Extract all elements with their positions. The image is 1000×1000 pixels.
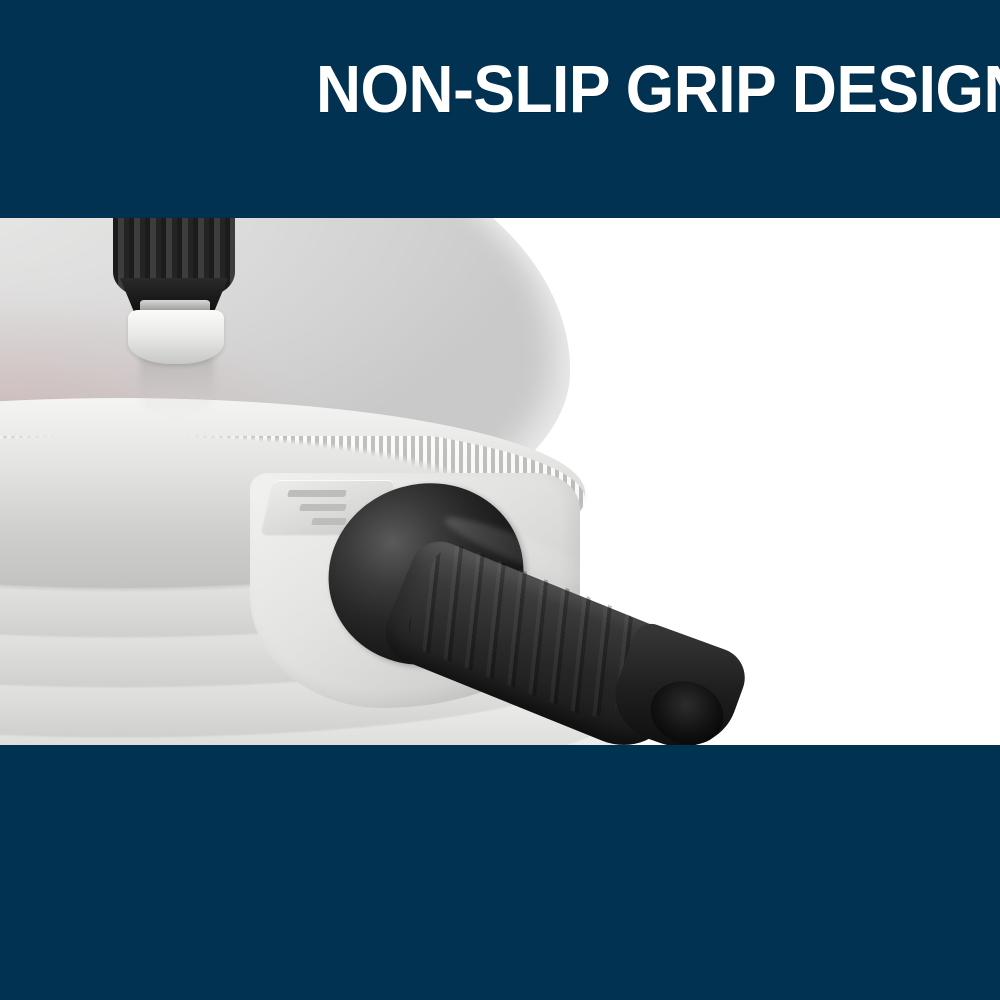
dust-cover-collar <box>128 310 224 364</box>
collar-shadow <box>140 356 214 416</box>
product-feature-banner: NON-SLIP GRIP DESIGN <box>0 0 1000 1000</box>
footer-band: Effectively Prevent The Dust Cover From … <box>0 745 1000 1000</box>
header-band: NON-SLIP GRIP DESIGN <box>0 0 1000 218</box>
non-slip-side-handle <box>318 468 738 745</box>
product-photo <box>0 218 1000 745</box>
page-title: NON-SLIP GRIP DESIGN <box>316 56 935 124</box>
